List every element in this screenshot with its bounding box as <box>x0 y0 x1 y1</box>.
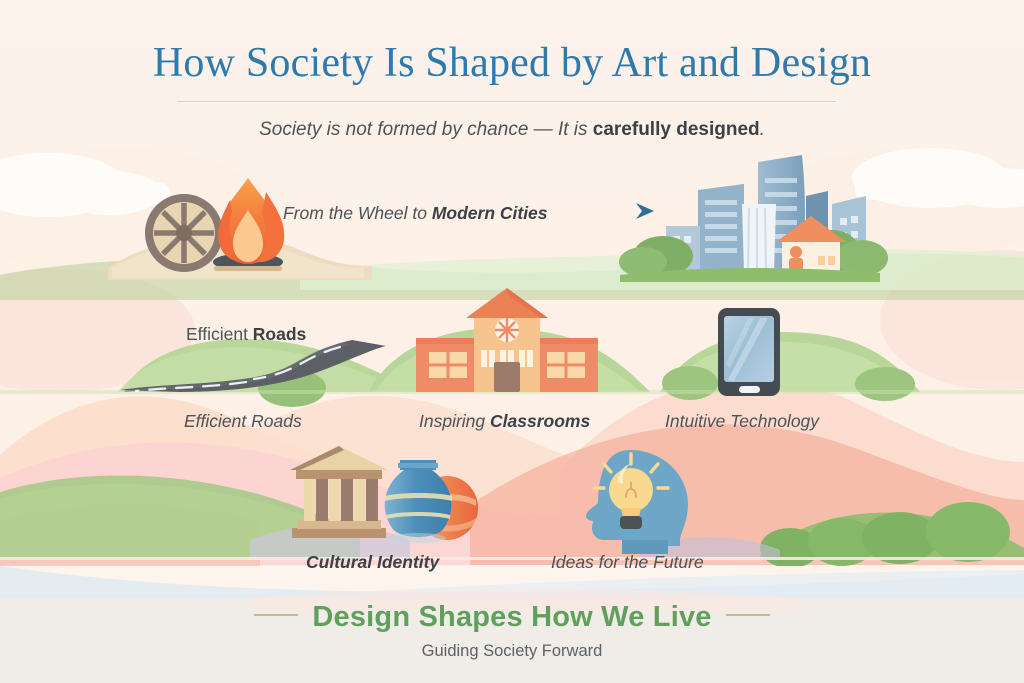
caption-ideas-for-the-future: Ideas for the Future <box>551 552 704 573</box>
caption-intuitive-technology: Intuitive Technology <box>665 411 819 432</box>
caption-cultural-identity: Cultural Identity <box>306 552 439 573</box>
caption-text: Inspiring <box>419 411 490 431</box>
subtitle-tail: . <box>760 119 765 140</box>
footer-dash-right <box>726 614 770 616</box>
evolution-label-lead: From the Wheel to <box>283 203 432 223</box>
caption-emphasis: Cultural Identity <box>306 552 439 572</box>
footer-headline: Design Shapes How We Live <box>0 601 1024 634</box>
background-scenery <box>0 0 1024 683</box>
caption-text: Intuitive Technology <box>665 411 819 431</box>
arrow-right-icon <box>586 200 656 222</box>
footer-subline: Guiding Society Forward <box>0 642 1024 661</box>
footer-subline-text: Guiding Society Forward <box>422 642 603 660</box>
caption-inspiring-classrooms: Inspiring Classrooms <box>419 411 590 432</box>
wagon-wheel-icon <box>145 194 223 272</box>
footer-headline-text: Design Shapes How We Live <box>312 601 711 633</box>
roads-inline-label: Efficient Roads <box>186 324 306 345</box>
evolution-label-emphasis: Modern Cities <box>432 203 548 223</box>
title-divider <box>177 101 836 102</box>
caption-text: Ideas for the Future <box>551 552 704 572</box>
infographic-canvas: How Society Is Shaped by Art and Design … <box>0 0 1024 683</box>
page-title: How Society Is Shaped by Art and Design <box>0 40 1024 86</box>
caption-text: Efficient Roads <box>184 411 302 431</box>
caption-efficient-roads: Efficient Roads <box>184 411 302 432</box>
roads-inline-lead: Efficient <box>186 324 253 344</box>
evolution-label: From the Wheel to Modern Cities <box>283 203 548 224</box>
subtitle-lead: Society is not formed by chance — It is <box>259 119 593 140</box>
footer-dash-left <box>254 614 298 616</box>
subtitle: Society is not formed by chance — It is … <box>0 119 1024 141</box>
smartphone-icon <box>718 308 780 396</box>
caption-emphasis: Classrooms <box>490 411 590 431</box>
roads-inline-emphasis: Roads <box>253 324 306 344</box>
subtitle-emphasis: carefully designed <box>593 119 760 140</box>
